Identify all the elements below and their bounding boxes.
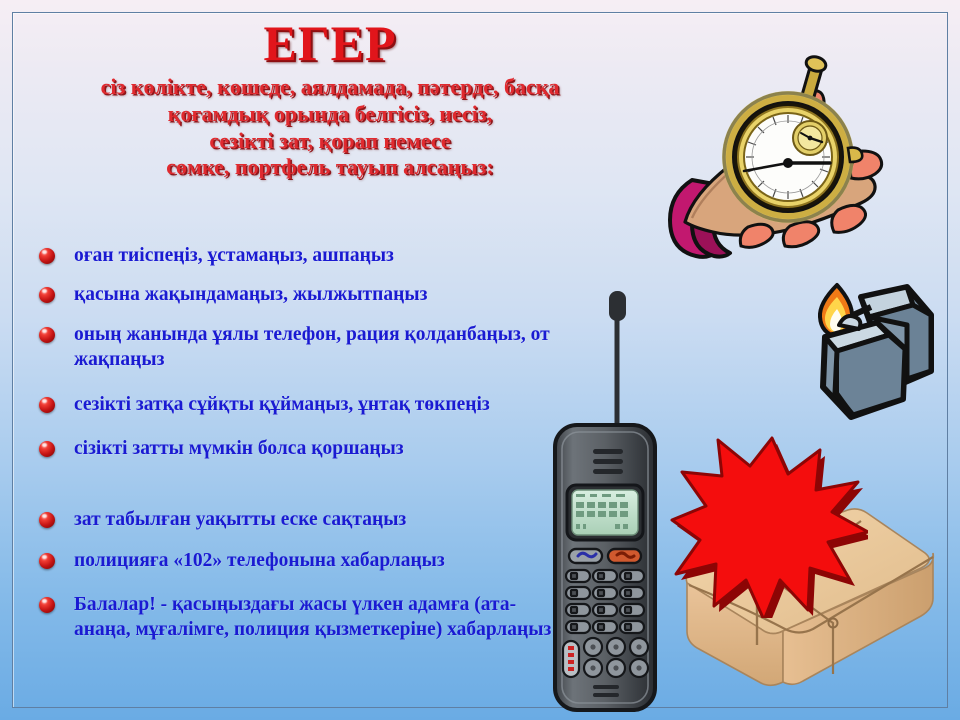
mobile-phone-illustration: [545, 285, 665, 715]
instruction-text: полицияға «102» телефонына хабарлаңыз: [74, 548, 556, 573]
poster-heading-block: ЕГЕР сіз көлікте, көшеде, аялдамада, пәт…: [0, 18, 660, 181]
bullet-point-icon: [39, 397, 55, 413]
bullet-point-icon: [39, 327, 55, 343]
subtitle-line-2: қоғамдық орында белгісіз, иесіз,: [0, 101, 660, 128]
bullet-point-icon: [39, 287, 55, 303]
instruction-item-7: полицияға «102» телефонына хабарлаңыз: [36, 548, 556, 573]
page-title: ЕГЕР: [0, 18, 660, 68]
earpiece-grille-icon: [593, 449, 623, 474]
bullet-point-icon: [39, 597, 55, 613]
bullet-point-icon: [39, 512, 55, 528]
instruction-item-1: оған тиіспеңіз, ұстамаңыз, ашпаңыз: [36, 243, 556, 268]
instruction-item-2: қасына жақындамаңыз, жылжытпаңыз: [36, 282, 556, 307]
subtitle-line-4: сөмке, портфель тауып алсаңыз:: [0, 154, 660, 181]
instruction-item-3: оның жанында ұялы телефон, рация қолданб…: [36, 322, 556, 373]
safety-poster: ЕГЕР сіз көлікте, көшеде, аялдамада, пәт…: [0, 0, 960, 720]
instruction-item-6: зат табылған уақытты еске сақтаңыз: [36, 507, 556, 532]
instruction-text: сезікті затқа сұйқты құймаңыз, ұнтақ төк…: [74, 392, 556, 417]
instruction-item-5: сізікті затты мүмкін болса қоршаңыз: [36, 436, 556, 461]
instruction-item-8: Балалар! - қасыңыздағы жасы үлкен адамға…: [36, 592, 556, 643]
poster-subtitle: сіз көлікте, көшеде, аялдамада, пәтерде,…: [0, 74, 660, 181]
antenna-icon: [609, 291, 626, 435]
instruction-text: оның жанында ұялы телефон, рация қолданб…: [74, 322, 556, 373]
bullet-point-icon: [39, 248, 55, 264]
lit-lighter-illustration: [795, 275, 945, 425]
subtitle-line-3: сезікті зат, қорап немесе: [0, 128, 660, 155]
instruction-list: оған тиіспеңіз, ұстамаңыз, ашпаңызқасына…: [36, 243, 556, 642]
hand-holding-pocket-watch-illustration: [640, 30, 940, 280]
bullet-point-icon: [39, 553, 55, 569]
phone-screen: [567, 485, 643, 540]
bullet-point-icon: [39, 441, 55, 457]
instruction-text: зат табылған уақытты еске сақтаңыз: [74, 507, 556, 532]
instruction-text: оған тиіспеңіз, ұстамаңыз, ашпаңыз: [74, 243, 556, 268]
instruction-item-4: сезікті затқа сұйқты құймаңыз, ұнтақ төк…: [36, 392, 556, 417]
instruction-text: қасына жақындамаңыз, жылжытпаңыз: [74, 282, 556, 307]
explosion-burst-illustration: [668, 428, 868, 618]
instruction-text: Балалар! - қасыңыздағы жасы үлкен адамға…: [74, 592, 556, 643]
subtitle-line-1: сіз көлікте, көшеде, аялдамада, пәтерде,…: [0, 74, 660, 101]
instruction-text: сізікті затты мүмкін болса қоршаңыз: [74, 436, 556, 461]
